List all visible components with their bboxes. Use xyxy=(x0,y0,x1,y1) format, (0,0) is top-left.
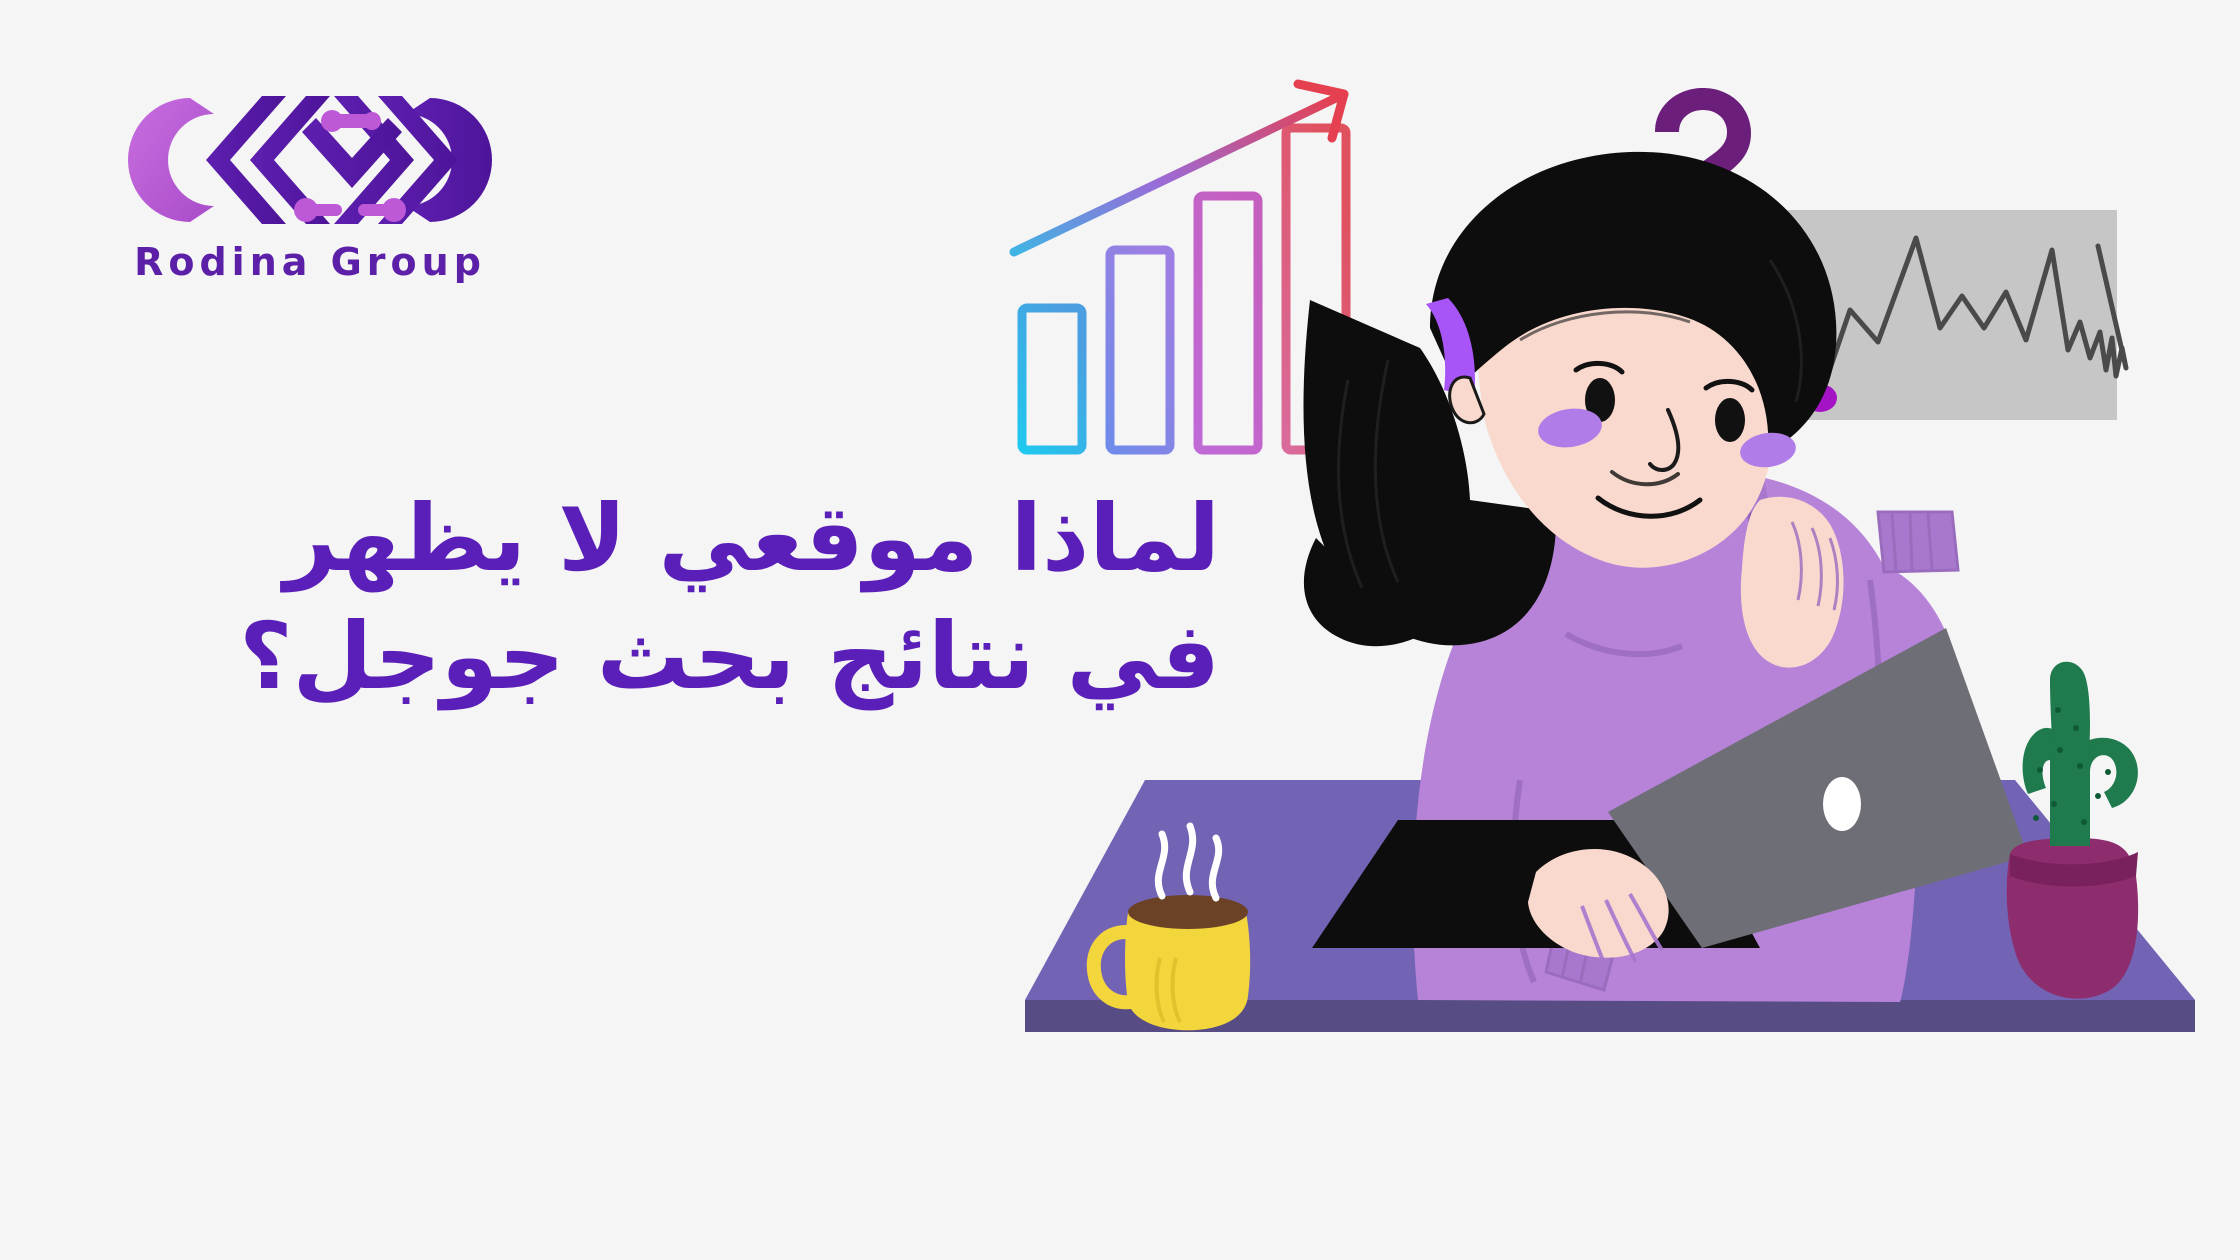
growth-bar-chart xyxy=(1014,84,1346,450)
coffee-surface xyxy=(1128,895,1248,929)
right-eye xyxy=(1715,398,1745,442)
volatility-line-chart xyxy=(1785,210,2126,420)
poster-canvas: Rodina Group لماذا موقعي لا يظهر في نتائ… xyxy=(0,0,2240,1260)
rodina-chevron-logo-icon xyxy=(110,80,510,240)
chin-resting-hand xyxy=(1741,497,1844,668)
laptop-logo-dot xyxy=(1823,777,1861,831)
brand-name: Rodina Group xyxy=(110,240,510,284)
sleeve-cuff xyxy=(1878,512,1958,572)
hero-illustration xyxy=(1000,60,2240,1260)
brand-logo: Rodina Group xyxy=(110,80,510,310)
